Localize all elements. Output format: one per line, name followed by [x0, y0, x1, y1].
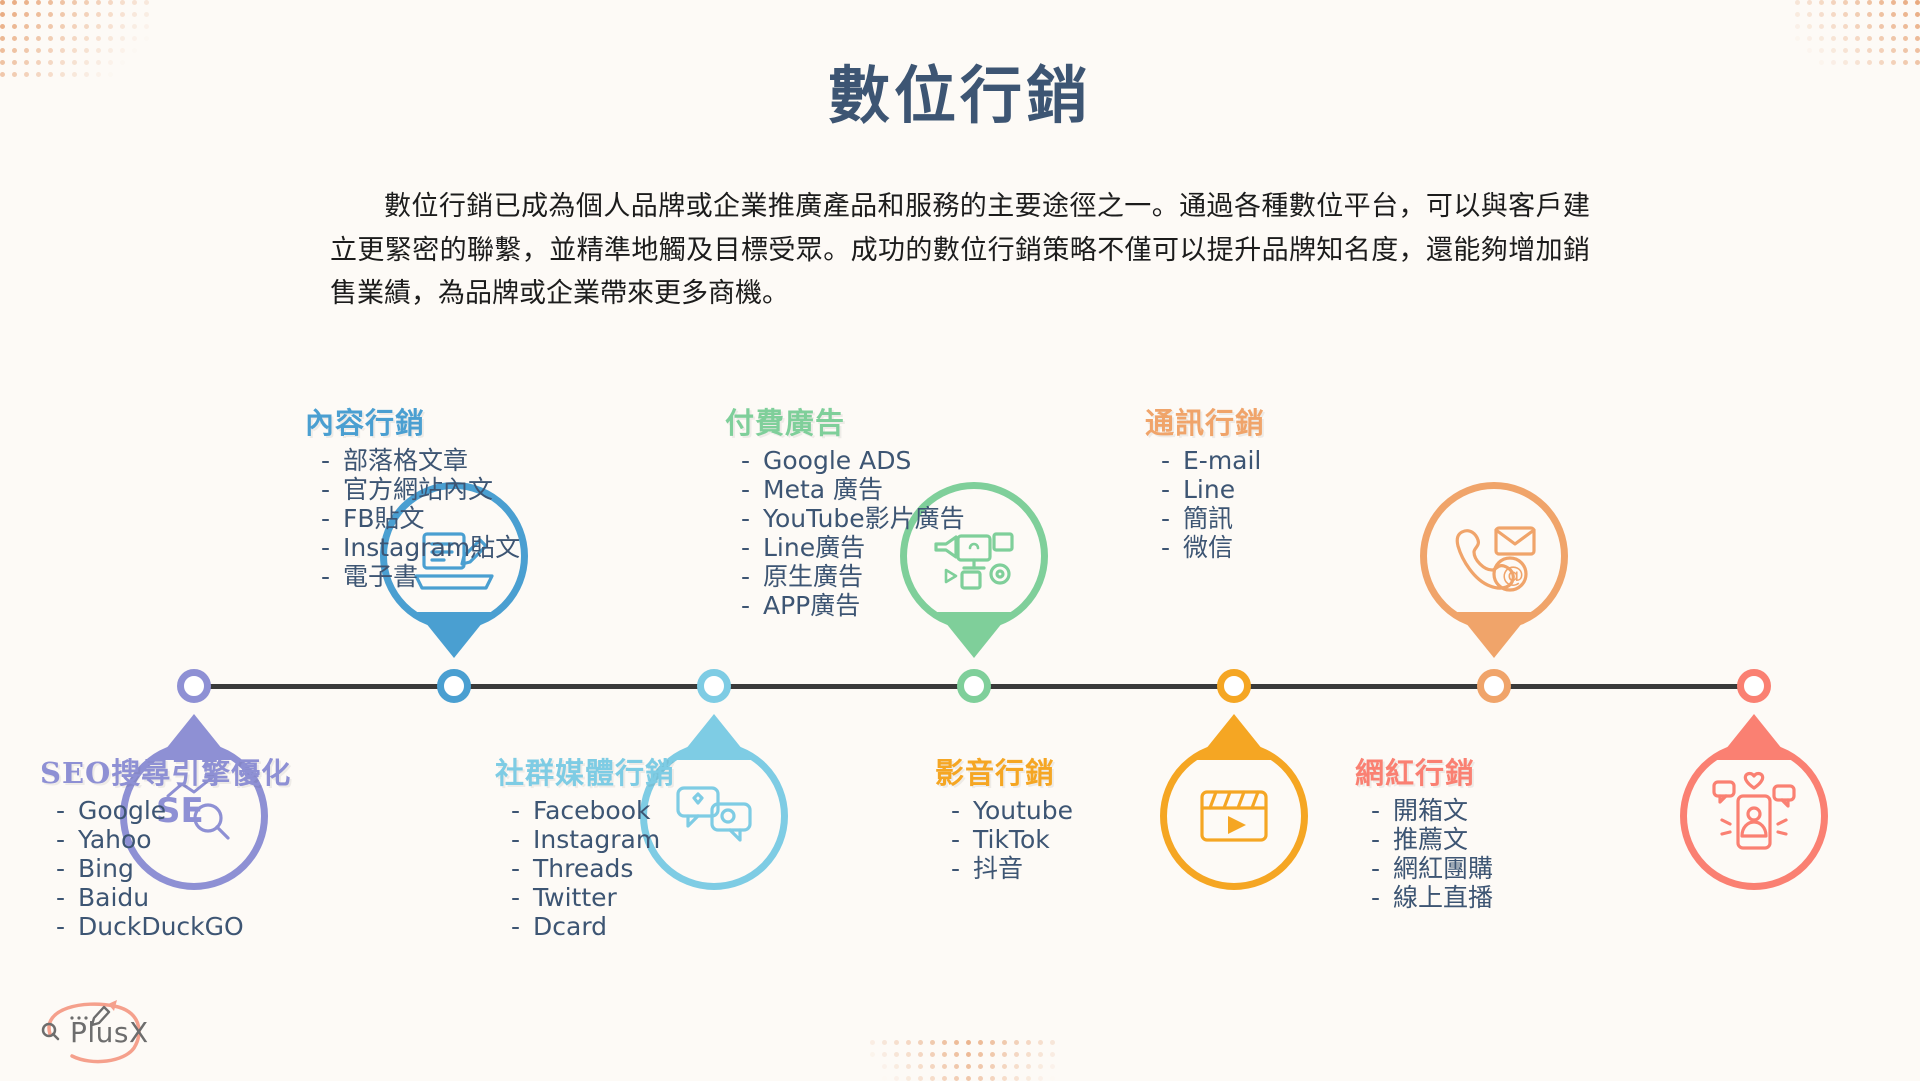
- section-block-content: 內容行銷部落格文章官方網站內文FB貼文Instagram貼文電子書: [305, 400, 520, 591]
- list-item: 網紅團購: [1371, 854, 1493, 883]
- list-item: 線上直播: [1371, 883, 1493, 912]
- timeline-node-video[interactable]: [1217, 669, 1251, 703]
- section-list-messaging: E-mailLine簡訊微信: [1161, 446, 1265, 562]
- list-item: Youtube: [951, 796, 1073, 825]
- list-item: Bing: [56, 854, 291, 883]
- section-list-content: 部落格文章官方網站內文FB貼文Instagram貼文電子書: [321, 446, 520, 591]
- list-item: 原生廣告: [741, 562, 965, 591]
- list-item: FB貼文: [321, 504, 520, 533]
- marker-pin-video[interactable]: [1160, 742, 1308, 890]
- list-item: Instagram: [511, 825, 675, 854]
- list-item: Line廣告: [741, 533, 965, 562]
- section-list-paid: Google ADSMeta 廣告YouTube影片廣告Line廣告原生廣告AP…: [741, 446, 965, 620]
- section-title-messaging: 通訊行銷: [1145, 400, 1265, 442]
- timeline-node-paid[interactable]: [957, 669, 991, 703]
- list-item: DuckDuckGO: [56, 912, 291, 941]
- list-item: Google: [56, 796, 291, 825]
- list-item: E-mail: [1161, 446, 1265, 475]
- list-item: YouTube影片廣告: [741, 504, 965, 533]
- section-title-video: 影音行銷: [935, 750, 1073, 792]
- section-title-seo: SEO搜尋引擎優化: [40, 750, 291, 792]
- list-item: Twitter: [511, 883, 675, 912]
- list-item: 官方網站內文: [321, 475, 520, 504]
- list-item: Meta 廣告: [741, 475, 965, 504]
- list-item: 電子書: [321, 562, 520, 591]
- section-list-social: FacebookInstagramThreadsTwitterDcard: [511, 796, 675, 941]
- section-title-influencer: 網紅行銷: [1355, 750, 1493, 792]
- list-item: Google ADS: [741, 446, 965, 475]
- list-item: Instagram貼文: [321, 533, 520, 562]
- section-title-paid: 付費廣告: [725, 400, 965, 442]
- page-title: 數位行銷: [0, 62, 1920, 130]
- plusx-logo: PlusX: [22, 998, 172, 1070]
- timeline-node-content[interactable]: [437, 669, 471, 703]
- section-title-social: 社群媒體行銷: [495, 750, 675, 792]
- section-block-social: 社群媒體行銷FacebookInstagramThreadsTwitterDca…: [495, 750, 675, 941]
- section-title-content: 內容行銷: [305, 400, 520, 442]
- list-item: 推薦文: [1371, 825, 1493, 854]
- section-block-influencer: 網紅行銷開箱文推薦文網紅團購線上直播: [1355, 750, 1493, 912]
- list-item: 開箱文: [1371, 796, 1493, 825]
- list-item: APP廣告: [741, 591, 965, 620]
- infographic-canvas: 數位行銷 數位行銷已成為個人品牌或企業推廣產品和服務的主要途徑之一。通過各種數位…: [0, 0, 1920, 1080]
- list-item: Baidu: [56, 883, 291, 912]
- list-item: 抖音: [951, 854, 1073, 883]
- section-list-seo: GoogleYahooBingBaiduDuckDuckGO: [56, 796, 291, 941]
- phone-person-chat-icon: [1680, 742, 1828, 890]
- timeline-node-influencer[interactable]: [1737, 669, 1771, 703]
- list-item: 部落格文章: [321, 446, 520, 475]
- section-block-seo: SEO搜尋引擎優化GoogleYahooBingBaiduDuckDuckGO: [40, 750, 291, 941]
- list-item: Dcard: [511, 912, 675, 941]
- logo-text: PlusX: [70, 1016, 149, 1049]
- video-play-icon: [1160, 742, 1308, 890]
- marker-pin-messaging[interactable]: @: [1420, 482, 1568, 630]
- section-list-influencer: 開箱文推薦文網紅團購線上直播: [1371, 796, 1493, 912]
- svg-text:@: @: [1502, 563, 1524, 588]
- timeline-node-social[interactable]: [697, 669, 731, 703]
- phone-envelope-at-icon: @: [1420, 482, 1568, 630]
- intro-paragraph: 數位行銷已成為個人品牌或企業推廣產品和服務的主要途徑之一。通過各種數位平台，可以…: [330, 185, 1590, 316]
- section-block-messaging: 通訊行銷E-mailLine簡訊微信: [1145, 400, 1265, 562]
- list-item: 簡訊: [1161, 504, 1265, 533]
- list-item: Yahoo: [56, 825, 291, 854]
- list-item: Line: [1161, 475, 1265, 504]
- list-item: Threads: [511, 854, 675, 883]
- list-item: TikTok: [951, 825, 1073, 854]
- list-item: Facebook: [511, 796, 675, 825]
- section-list-video: YoutubeTikTok抖音: [951, 796, 1073, 883]
- list-item: 微信: [1161, 533, 1265, 562]
- timeline-node-messaging[interactable]: [1477, 669, 1511, 703]
- section-block-video: 影音行銷YoutubeTikTok抖音: [935, 750, 1073, 883]
- timeline-node-seo[interactable]: [177, 669, 211, 703]
- marker-pin-influencer[interactable]: [1680, 742, 1828, 890]
- section-block-paid: 付費廣告Google ADSMeta 廣告YouTube影片廣告Line廣告原生…: [725, 400, 965, 620]
